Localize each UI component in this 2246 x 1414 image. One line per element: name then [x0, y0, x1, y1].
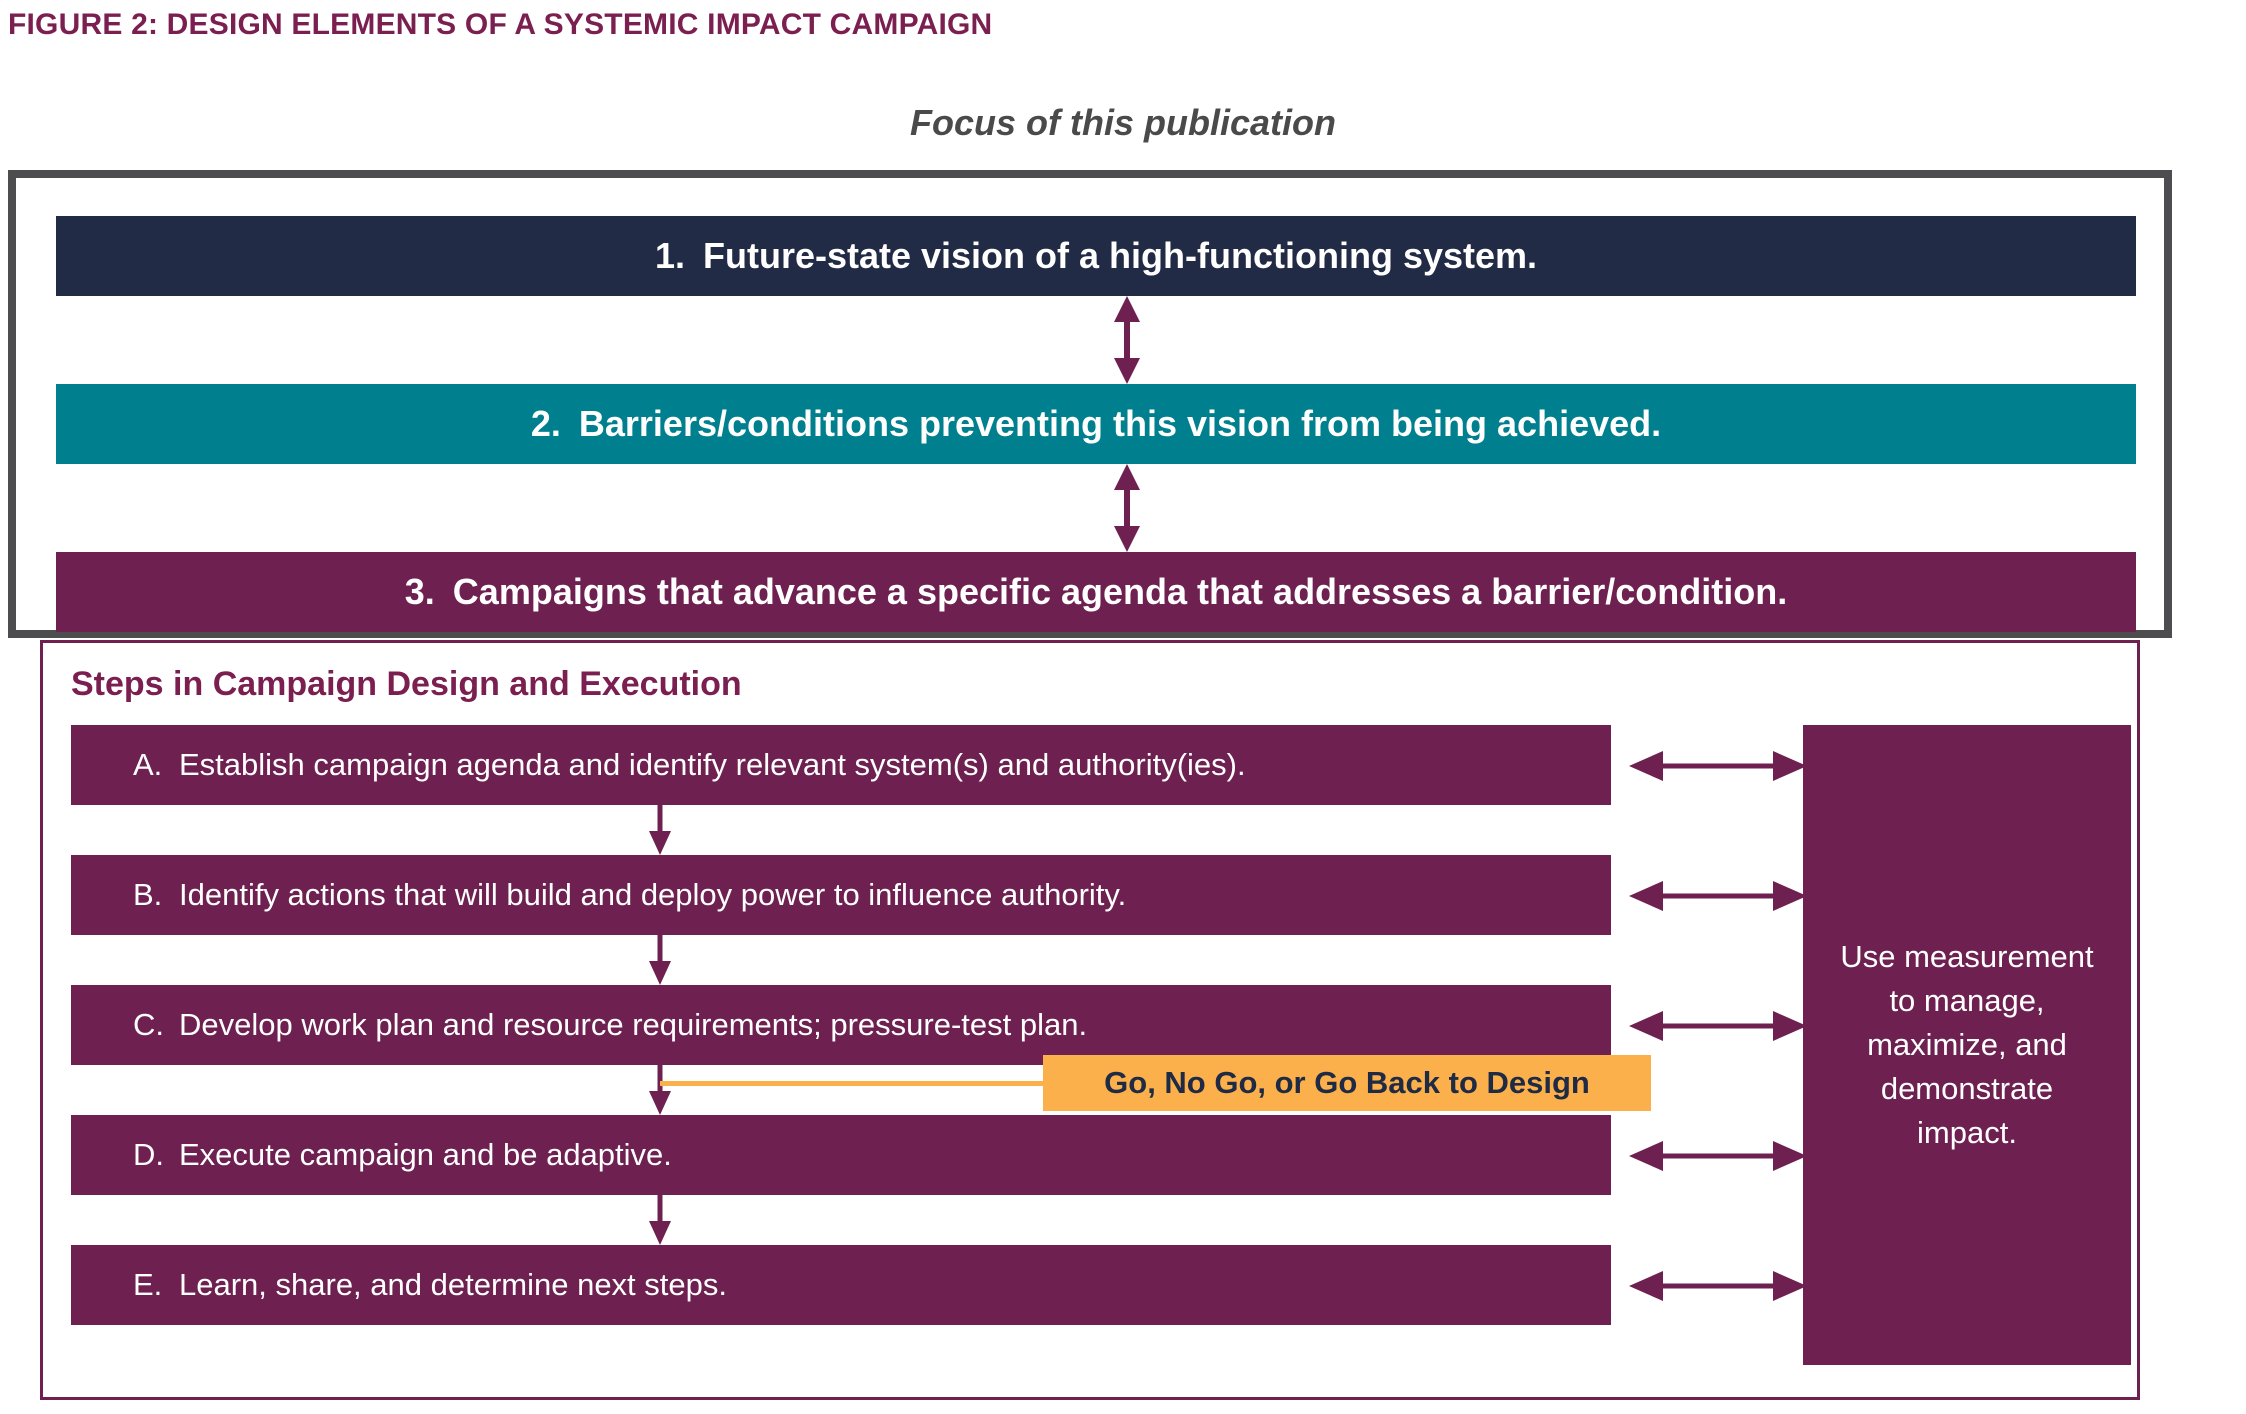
arrow-step-a-to-measurement	[1629, 743, 1807, 789]
vision-band-label: Future-state vision of a high-functionin…	[703, 235, 1537, 277]
step-e-label: Learn, share, and determine next steps.	[179, 1267, 727, 1303]
measurement-column: Use measurement to manage, maximize, and…	[1803, 725, 2131, 1365]
vision-band: 1. Future-state vision of a high-functio…	[56, 216, 2136, 296]
step-d-box: D. Execute campaign and be adaptive.	[71, 1115, 1611, 1195]
step-b-box: B. Identify actions that will build and …	[71, 855, 1611, 935]
barriers-band-label: Barriers/conditions preventing this visi…	[579, 403, 1661, 445]
decision-gate-connector	[660, 1081, 1045, 1086]
step-c-label: Develop work plan and resource requireme…	[179, 1007, 1087, 1043]
step-b-label: Identify actions that will build and dep…	[179, 877, 1126, 913]
measurement-note: Use measurement to manage, maximize, and…	[1829, 935, 2105, 1155]
step-a-letter: A.	[133, 747, 179, 783]
step-c-box: C. Develop work plan and resource requir…	[71, 985, 1611, 1065]
arrow-step-a-to-b	[647, 805, 673, 855]
decision-gate-box: Go, No Go, or Go Back to Design	[1043, 1055, 1651, 1111]
barriers-band-number: 2.	[531, 403, 561, 445]
steps-heading: Steps in Campaign Design and Execution	[71, 665, 742, 704]
arrow-step-b-to-c	[647, 935, 673, 985]
arrow-step-d-to-e	[647, 1195, 673, 1245]
focus-frame: 1. Future-state vision of a high-functio…	[8, 170, 2172, 638]
steps-frame: Steps in Campaign Design and Execution A…	[40, 640, 2140, 1400]
arrow-step-e-to-measurement	[1629, 1263, 1807, 1309]
vision-band-number: 1.	[655, 235, 685, 277]
arrow-step-c-to-d	[647, 1065, 673, 1115]
barriers-band: 2. Barriers/conditions preventing this v…	[56, 384, 2136, 464]
campaigns-band-label: Campaigns that advance a specific agenda…	[453, 571, 1787, 613]
step-c-letter: C.	[133, 1007, 179, 1043]
focus-of-publication-label: Focus of this publication	[0, 102, 2246, 144]
figure-title: FIGURE 2: DESIGN ELEMENTS OF A SYSTEMIC …	[8, 8, 992, 42]
step-e-box: E. Learn, share, and determine next step…	[71, 1245, 1611, 1325]
campaigns-band-number: 3.	[405, 571, 435, 613]
step-d-letter: D.	[133, 1137, 179, 1173]
arrow-barriers-campaigns	[1110, 464, 1144, 552]
step-e-letter: E.	[133, 1267, 179, 1303]
step-b-letter: B.	[133, 877, 179, 913]
arrow-step-d-to-measurement	[1629, 1133, 1807, 1179]
arrow-step-c-to-measurement	[1629, 1003, 1807, 1049]
arrow-vision-barriers	[1110, 296, 1144, 384]
step-d-label: Execute campaign and be adaptive.	[179, 1137, 672, 1173]
step-a-label: Establish campaign agenda and identify r…	[179, 747, 1246, 783]
campaigns-band: 3. Campaigns that advance a specific age…	[56, 552, 2136, 632]
step-a-box: A. Establish campaign agenda and identif…	[71, 725, 1611, 805]
arrow-step-b-to-measurement	[1629, 873, 1807, 919]
